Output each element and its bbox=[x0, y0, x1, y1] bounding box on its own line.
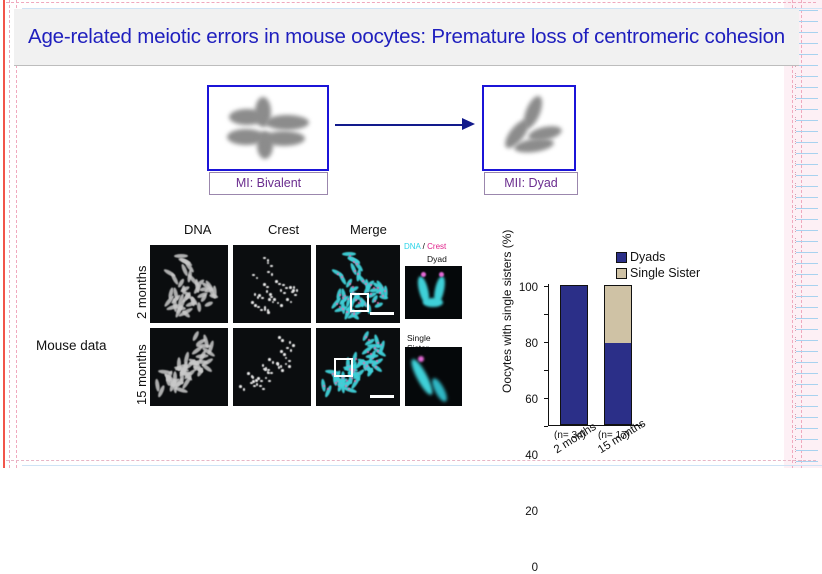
ruler-tick bbox=[795, 227, 796, 232]
centromere-signal bbox=[270, 265, 273, 268]
ruler-tick bbox=[795, 128, 796, 133]
centromere-signal bbox=[263, 257, 266, 260]
centromere-signal bbox=[282, 284, 285, 287]
chart-legend: DyadsSingle Sister bbox=[616, 249, 700, 281]
centromere-signal bbox=[281, 339, 284, 342]
centromere-signal bbox=[257, 377, 260, 380]
centromere-signal bbox=[345, 385, 347, 387]
centromere-signal bbox=[289, 286, 292, 289]
bottom-blue-rule bbox=[22, 465, 822, 466]
ruler-tick bbox=[795, 315, 796, 320]
centromere-signal bbox=[243, 388, 246, 391]
ruler-tick bbox=[795, 183, 796, 188]
ruler-tick bbox=[795, 447, 796, 452]
ruler-row bbox=[796, 241, 818, 242]
ruler-row bbox=[796, 76, 818, 77]
ruler-row bbox=[796, 439, 818, 440]
centromere-signal bbox=[280, 289, 283, 292]
centromere-signal bbox=[286, 298, 289, 301]
chart-y-tick: 80 bbox=[544, 314, 548, 315]
ruler-row bbox=[796, 230, 818, 231]
chart-bar[interactable] bbox=[604, 285, 632, 425]
centromere-signal bbox=[379, 292, 381, 294]
ruler-row bbox=[796, 10, 818, 11]
ruler-tick bbox=[795, 414, 796, 419]
micrograph-dna-15months bbox=[150, 328, 228, 406]
ruler-row bbox=[796, 109, 818, 110]
slide-title-bar: Age-related meiotic errors in mouse oocy… bbox=[14, 9, 799, 66]
centromere-signal bbox=[354, 380, 356, 382]
centromere-signal bbox=[262, 364, 265, 367]
left-dashed-guide-2 bbox=[16, 0, 17, 468]
legend-dna-label: DNA bbox=[404, 242, 420, 251]
centromere-signal bbox=[276, 362, 279, 365]
inset-dyad bbox=[405, 266, 462, 319]
centromere-signal bbox=[285, 363, 288, 366]
centromere-signal bbox=[256, 383, 259, 386]
ruler-row bbox=[796, 296, 818, 297]
centromere-signal bbox=[289, 341, 292, 344]
centromere-signal bbox=[367, 351, 369, 353]
inset-caption-dyad: Dyad bbox=[427, 254, 447, 264]
ruler-tick bbox=[795, 238, 796, 243]
centromere-signal bbox=[288, 365, 291, 368]
ruler-tick bbox=[795, 249, 796, 254]
chart-y-tick-label: 40 bbox=[525, 450, 538, 462]
centromere-signal bbox=[373, 287, 375, 289]
centromere-signal bbox=[285, 287, 288, 290]
ruler-row bbox=[796, 87, 818, 88]
ruler-row bbox=[796, 32, 818, 33]
ruler-tick bbox=[795, 260, 796, 265]
centromere-signal bbox=[263, 283, 266, 286]
ruler-tick bbox=[795, 359, 796, 364]
chromosome bbox=[208, 293, 218, 299]
chromosome bbox=[185, 300, 197, 308]
centromere-signal bbox=[269, 293, 272, 296]
centromere-signal bbox=[270, 372, 273, 375]
ruler-row bbox=[796, 307, 818, 308]
centromere-signal bbox=[260, 380, 263, 383]
ruler-row bbox=[796, 175, 818, 176]
ruler-tick bbox=[795, 139, 796, 144]
centromere-signal bbox=[262, 388, 265, 391]
chromosome bbox=[204, 300, 214, 308]
ruler-tick bbox=[795, 194, 796, 199]
centromere-signal bbox=[285, 357, 288, 360]
centromere-signal bbox=[280, 304, 283, 307]
ruler-row bbox=[796, 252, 818, 253]
centromere-signal bbox=[265, 377, 268, 380]
ruler-row bbox=[796, 120, 818, 121]
ruler-tick bbox=[795, 370, 796, 375]
bivalent-caption: MI: Bivalent bbox=[209, 172, 328, 195]
ruler-row bbox=[796, 21, 818, 22]
centromere-signal bbox=[353, 261, 355, 263]
ruler-tick bbox=[795, 381, 796, 386]
ruler-tick bbox=[795, 458, 796, 463]
centromere-signal bbox=[382, 295, 384, 297]
ruler-tick bbox=[795, 337, 796, 342]
ruler-row bbox=[796, 318, 818, 319]
centromere-signal bbox=[283, 353, 286, 356]
ruler-tick bbox=[795, 117, 796, 122]
chart-y-axis bbox=[548, 284, 549, 426]
centromere-signal bbox=[254, 293, 257, 296]
centromere-signal bbox=[257, 296, 260, 299]
ruler-row bbox=[796, 164, 818, 165]
ruler-tick bbox=[795, 95, 796, 100]
ruler-tick bbox=[795, 403, 796, 408]
bottom-dashed-guide bbox=[6, 460, 816, 461]
ruler-row bbox=[796, 285, 818, 286]
centromere-signal bbox=[374, 300, 376, 302]
centromere-signal bbox=[280, 350, 283, 353]
centromere-signal bbox=[272, 361, 275, 364]
ruler-row bbox=[796, 153, 818, 154]
ruler-tick bbox=[795, 161, 796, 166]
ruler-row bbox=[796, 406, 818, 407]
chart-y-tick: 0 bbox=[544, 426, 548, 427]
legend-crest-label: Crest bbox=[427, 242, 446, 251]
chart-y-tick-label: 80 bbox=[525, 338, 538, 350]
left-dashed-guide-1 bbox=[9, 0, 10, 468]
centromere-signal bbox=[278, 336, 281, 339]
chart-bar[interactable] bbox=[560, 285, 588, 425]
centromere-signal bbox=[257, 306, 260, 309]
ruler-tick bbox=[795, 326, 796, 331]
ruler-tick bbox=[795, 304, 796, 309]
ruler-row bbox=[796, 340, 818, 341]
centromere-signal bbox=[278, 283, 281, 286]
column-header-merge: Merge bbox=[350, 222, 387, 237]
inset-centromere bbox=[439, 272, 444, 277]
ruler-row bbox=[796, 98, 818, 99]
ruler-row bbox=[796, 417, 818, 418]
inset-centromere bbox=[418, 356, 424, 362]
ruler-tick bbox=[795, 293, 796, 298]
centromere-signal bbox=[268, 298, 271, 301]
ruler-row bbox=[796, 373, 818, 374]
page-title: Age-related meiotic errors in mouse oocy… bbox=[22, 24, 792, 50]
centromere-signal bbox=[251, 375, 254, 378]
right-dashed-guide-1 bbox=[792, 0, 793, 468]
centromere-signal bbox=[277, 302, 280, 305]
chart-y-tick: 40 bbox=[544, 370, 548, 371]
ruler-row bbox=[796, 362, 818, 363]
chart-y-tick: 100 bbox=[544, 286, 548, 287]
chart-legend-item[interactable]: Single Sister bbox=[616, 265, 700, 281]
mouse-data-label: Mouse data bbox=[36, 338, 107, 353]
centromere-signal bbox=[259, 385, 262, 388]
slide-page: Age-related meiotic errors in mouse oocy… bbox=[0, 0, 822, 468]
right-margin-guides bbox=[784, 0, 822, 468]
merge-channel-legend: DNA / Crest bbox=[404, 242, 446, 251]
ruler-tick bbox=[795, 436, 796, 441]
centromere-signal bbox=[346, 311, 348, 313]
micrograph-crest-2months bbox=[233, 245, 311, 323]
chart-bar-segment[interactable] bbox=[605, 343, 631, 424]
centromere-signal bbox=[286, 347, 289, 350]
centromere-signal bbox=[267, 311, 270, 314]
centromere-signal bbox=[261, 297, 264, 300]
inset-centromere bbox=[421, 272, 426, 277]
chart-bar-segment[interactable] bbox=[605, 286, 631, 343]
centromere-signal bbox=[272, 301, 275, 304]
ruler-tick bbox=[795, 150, 796, 155]
ruler-row bbox=[796, 208, 818, 209]
centromere-signal bbox=[266, 290, 269, 293]
chart-legend-label: Dyads bbox=[630, 250, 665, 264]
micrograph-merge-2months bbox=[316, 245, 400, 323]
centromere-signal bbox=[288, 360, 291, 363]
ruler-tick bbox=[795, 84, 796, 89]
dyad-caption: MII: Dyad bbox=[484, 172, 578, 195]
centromere-signal bbox=[336, 303, 338, 305]
chart-legend-label: Single Sister bbox=[630, 266, 700, 280]
micrograph-dna-2months bbox=[150, 245, 228, 323]
column-header-crest: Crest bbox=[268, 222, 299, 237]
micrograph-crest-15months bbox=[233, 328, 311, 406]
centromere-signal bbox=[264, 308, 267, 311]
centromere-signal bbox=[291, 291, 294, 294]
right-dashed-guide-2 bbox=[801, 0, 802, 468]
ruler-row bbox=[796, 450, 818, 451]
chart-y-tick-label: 0 bbox=[532, 562, 538, 574]
chart-legend-swatch bbox=[616, 252, 627, 263]
ruler-row bbox=[796, 131, 818, 132]
ruler-tick bbox=[795, 348, 796, 353]
chart-y-axis-label: Oocytes with single sisters (%) bbox=[500, 230, 514, 393]
ruler-tick bbox=[795, 73, 796, 78]
row-label-15-months: 15 months bbox=[134, 344, 149, 405]
centromere-signal bbox=[271, 273, 274, 276]
centromere-signal bbox=[296, 289, 299, 292]
ruler-tick bbox=[795, 172, 796, 177]
inset-chromatid bbox=[423, 298, 443, 307]
centromere-signal bbox=[268, 358, 271, 361]
centromere-signal bbox=[370, 293, 372, 295]
centromere-signal bbox=[256, 277, 259, 280]
ruler-row bbox=[796, 142, 818, 143]
chart-y-tick-label: 100 bbox=[519, 282, 538, 294]
centromere-signal bbox=[247, 372, 250, 375]
transition-arrow bbox=[335, 118, 475, 132]
scale-bar bbox=[370, 395, 394, 398]
ruler-row bbox=[796, 219, 818, 220]
centromere-signal bbox=[267, 271, 270, 274]
ruler-row bbox=[796, 197, 818, 198]
chart-legend-swatch bbox=[616, 268, 627, 279]
scale-bar bbox=[370, 312, 394, 315]
ruler-tick bbox=[795, 425, 796, 430]
centromere-signal bbox=[290, 349, 293, 352]
centromere-signal bbox=[260, 309, 263, 312]
ruler-row bbox=[796, 428, 818, 429]
micrograph-merge-15months bbox=[316, 328, 400, 406]
centromere-signal bbox=[292, 344, 295, 347]
centromere-signal bbox=[268, 380, 271, 383]
chart-y-tick: 20 bbox=[544, 398, 548, 399]
ruler-tick bbox=[795, 216, 796, 221]
region-of-interest-box bbox=[350, 293, 369, 312]
ruler-tick bbox=[795, 392, 796, 397]
bivalent-image-box bbox=[207, 85, 329, 171]
ruler-tick bbox=[795, 282, 796, 287]
row-label-2-months: 2 months bbox=[134, 266, 149, 319]
ruler-row bbox=[796, 54, 818, 55]
centromere-signal bbox=[281, 369, 284, 372]
centromere-signal bbox=[354, 270, 356, 272]
arrow-right-icon bbox=[462, 118, 475, 130]
arrow-line bbox=[335, 124, 463, 126]
inset-chromatid bbox=[408, 357, 436, 397]
chart-plot-area: 020406080100(n= 34)2 months(n= 17)15 mon… bbox=[548, 284, 642, 426]
ruler-row bbox=[796, 384, 818, 385]
ruler-row bbox=[796, 43, 818, 44]
centromere-signal bbox=[267, 262, 270, 265]
centromere-signal bbox=[357, 273, 359, 275]
ruler-row bbox=[796, 263, 818, 264]
column-header-dna: DNA bbox=[184, 222, 211, 237]
ruler-row bbox=[796, 351, 818, 352]
centromere-signal bbox=[252, 274, 255, 277]
centromere-signal bbox=[348, 388, 350, 390]
centromere-signal bbox=[266, 286, 269, 289]
chromosome bbox=[197, 302, 202, 312]
left-margin-guides bbox=[0, 0, 22, 468]
ruler-row bbox=[796, 329, 818, 330]
centromere-signal bbox=[252, 380, 255, 383]
ruler-tick bbox=[795, 205, 796, 210]
chart-y-tick-label: 60 bbox=[525, 394, 538, 406]
chromosome bbox=[196, 353, 209, 358]
chart-y-tick: 60 bbox=[544, 342, 548, 343]
ruler-row bbox=[796, 186, 818, 187]
centromere-signal bbox=[341, 276, 343, 278]
chromosome bbox=[366, 353, 379, 358]
ruler-tick bbox=[795, 271, 796, 276]
inset-single-sister bbox=[405, 347, 462, 406]
centromere-signal bbox=[290, 301, 293, 304]
centromere-signal bbox=[283, 292, 286, 295]
chart-bar-segment[interactable] bbox=[561, 286, 587, 424]
centromere-signal bbox=[374, 347, 376, 349]
chart-legend-item[interactable]: Dyads bbox=[616, 249, 700, 265]
centromere-signal bbox=[294, 294, 297, 297]
centromere-signal bbox=[342, 297, 344, 299]
centromere-signal bbox=[376, 360, 378, 362]
ruler-row bbox=[796, 461, 818, 462]
ruler-row bbox=[796, 274, 818, 275]
chart-y-tick-label: 20 bbox=[525, 506, 538, 518]
ruler-tick bbox=[795, 106, 796, 111]
centromere-signal bbox=[239, 385, 242, 388]
ruler-row bbox=[796, 395, 818, 396]
dyad-image-box bbox=[482, 85, 576, 171]
top-dashed-guide bbox=[6, 2, 816, 3]
bar-chart: Oocytes with single sisters (%) DyadsSin… bbox=[498, 243, 713, 443]
region-of-interest-box bbox=[334, 358, 353, 377]
ruler-row bbox=[796, 65, 818, 66]
left-red-rule bbox=[3, 0, 5, 468]
